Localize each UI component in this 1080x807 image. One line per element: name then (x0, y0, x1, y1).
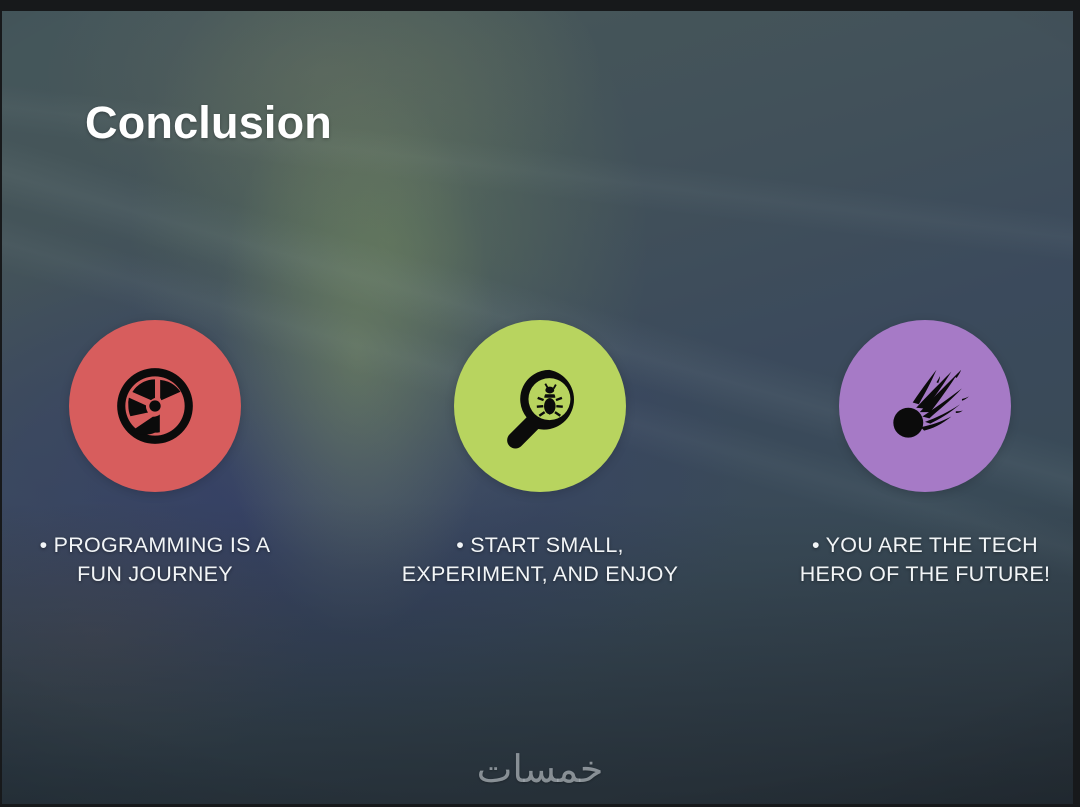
window-frame-right (1073, 0, 1080, 807)
conclusion-point-1: • PROGRAMMING IS A FUN JOURNEY (35, 320, 275, 589)
badge-circle-2[interactable] (454, 320, 626, 492)
comet-icon (881, 362, 969, 450)
conclusion-point-3: • YOU ARE THE TECH HERO OF THE FUTURE! (805, 320, 1045, 589)
badge-circle-1[interactable] (69, 320, 241, 492)
magnifier-bug-icon (497, 363, 583, 449)
beach-ball-icon (112, 363, 198, 449)
conclusion-points-row: • PROGRAMMING IS A FUN JOURNEY (0, 320, 1080, 589)
caption-line-3a: • YOU ARE THE TECH (812, 533, 1038, 557)
caption-line-1b: FUN JOURNEY (77, 562, 233, 586)
slide-content: Conclusion (0, 0, 1080, 807)
caption-line-1a: • PROGRAMMING IS A (40, 533, 271, 557)
window-frame-left (0, 0, 2, 807)
conclusion-point-caption-1: • PROGRAMMING IS A FUN JOURNEY (10, 531, 300, 589)
caption-line-2a: • START SMALL, (456, 533, 624, 557)
page-title: Conclusion (85, 97, 332, 149)
conclusion-point-caption-3: • YOU ARE THE TECH HERO OF THE FUTURE! (780, 531, 1070, 589)
watermark: خمسات (0, 749, 1080, 791)
window-frame-top (0, 0, 1080, 11)
caption-line-2b: EXPERIMENT, AND ENJOY (402, 562, 678, 586)
presentation-slide: Conclusion (0, 0, 1080, 807)
conclusion-point-caption-2: • START SMALL, EXPERIMENT, AND ENJOY (395, 531, 685, 589)
badge-circle-3[interactable] (839, 320, 1011, 492)
conclusion-point-2: • START SMALL, EXPERIMENT, AND ENJOY (420, 320, 660, 589)
caption-line-3b: HERO OF THE FUTURE! (800, 562, 1050, 586)
